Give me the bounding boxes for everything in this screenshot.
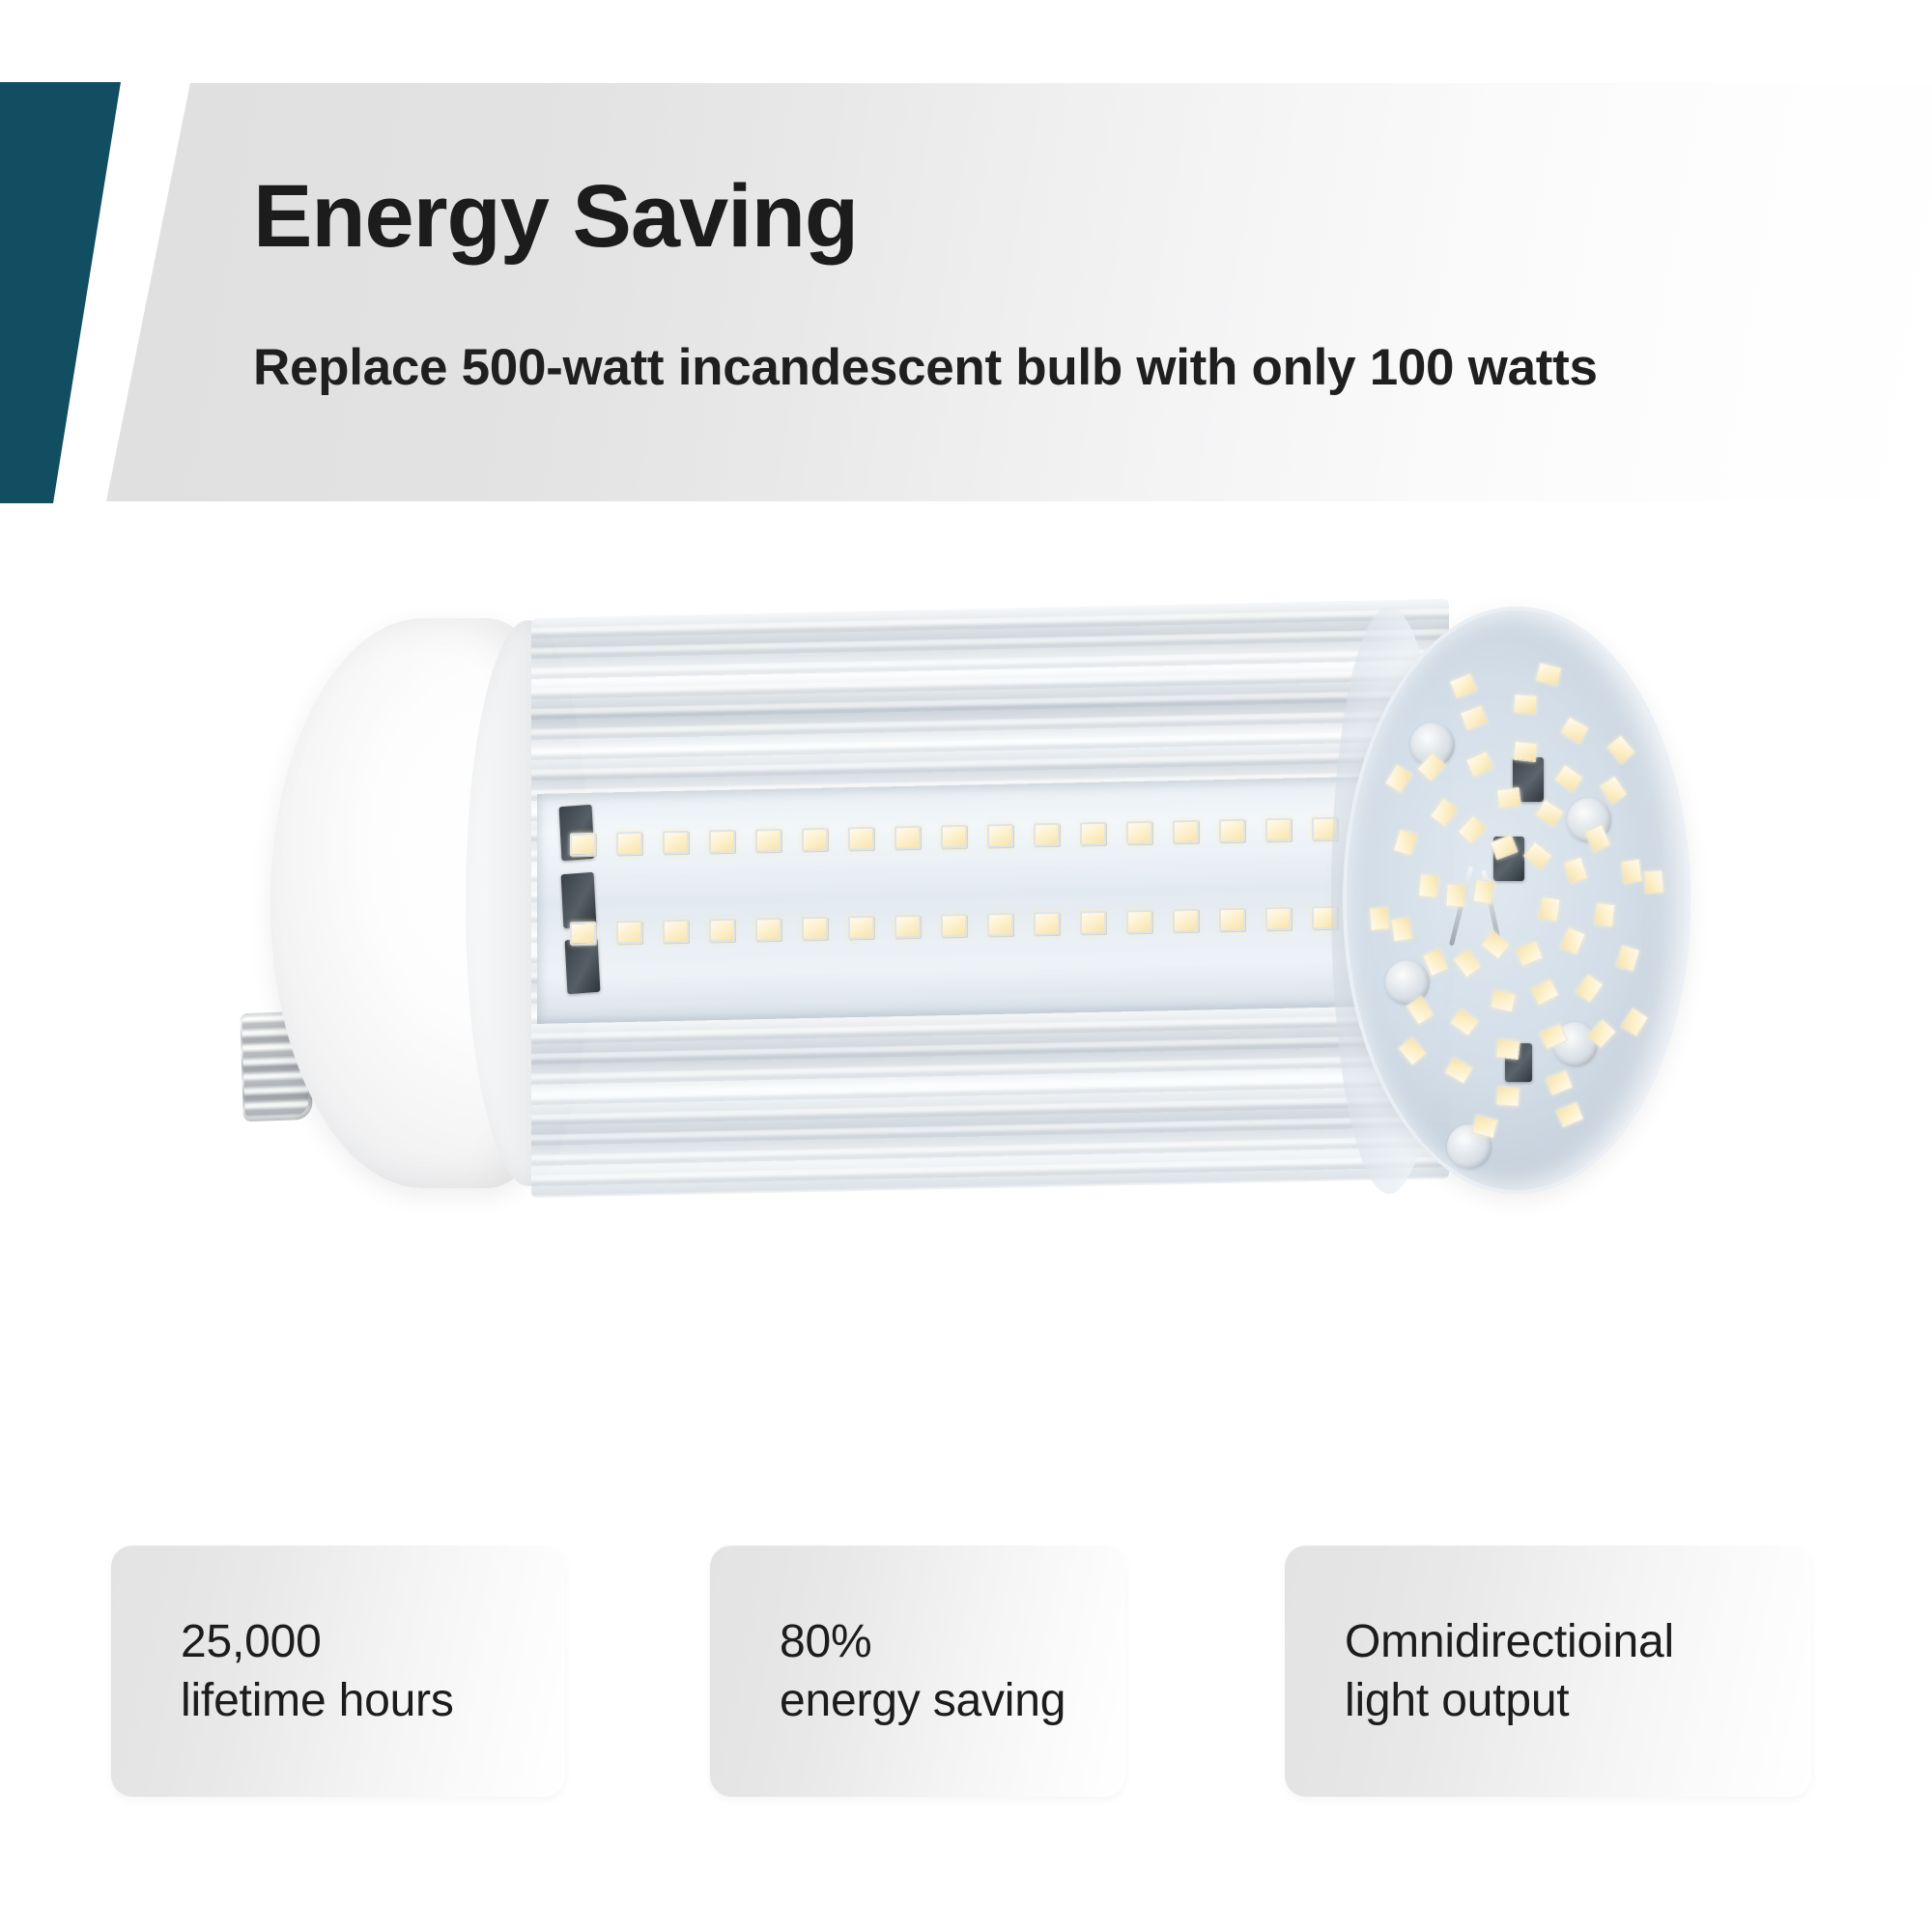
led-chip	[1545, 1069, 1574, 1095]
led-chip	[663, 831, 689, 855]
led-chip	[802, 828, 828, 852]
led-chip	[1449, 1008, 1479, 1037]
led-chip	[1034, 912, 1060, 936]
led-chip	[709, 919, 735, 943]
led-chip	[616, 921, 642, 945]
led-chip	[1620, 1008, 1649, 1037]
feature-card-energy-saving: 80% energy saving	[710, 1546, 1125, 1797]
led-chip	[1575, 973, 1604, 1003]
led-chip	[1560, 716, 1590, 744]
led-chip	[1472, 879, 1495, 905]
led-chip	[987, 824, 1013, 848]
feature-value: 25,000	[111, 1612, 565, 1671]
led-chip	[1398, 1036, 1428, 1065]
led-chip	[1265, 818, 1292, 842]
feature-label: light output	[1285, 1671, 1811, 1730]
led-chip	[1535, 662, 1562, 686]
led-chip	[1513, 694, 1537, 715]
led-chip	[1513, 741, 1538, 762]
led-chip	[1126, 821, 1152, 845]
led-chip	[1445, 883, 1465, 907]
led-chip	[1390, 917, 1413, 943]
led-chip	[1522, 841, 1552, 871]
led-chip	[1369, 906, 1390, 930]
led-chip	[709, 830, 735, 854]
led-chip	[1219, 819, 1245, 843]
led-chip	[1126, 910, 1152, 934]
feature-label: lifetime hours	[111, 1671, 565, 1730]
led-chip	[755, 918, 781, 942]
led-chip	[1534, 799, 1564, 828]
bulb-end-cap-led-board	[1343, 607, 1690, 1194]
led-chip	[1555, 1101, 1584, 1128]
led-chip	[755, 829, 781, 853]
led-chip	[1606, 734, 1636, 764]
led-chip	[1643, 869, 1664, 894]
feature-label: energy saving	[710, 1671, 1125, 1730]
feature-value: 80%	[710, 1612, 1125, 1671]
led-chip	[1495, 1038, 1520, 1060]
led-chip	[1080, 911, 1106, 935]
led-chip	[1453, 948, 1482, 978]
led-chip	[1615, 945, 1640, 973]
page-subtitle: Replace 500-watt incandescent bulb with …	[253, 342, 1598, 393]
feature-cards-row: 25,000 lifetime hours 80% energy saving …	[0, 1546, 1932, 1826]
feature-card-omnidirectional: Omnidirectioinal light output	[1285, 1546, 1811, 1797]
led-chip	[1594, 902, 1615, 927]
led-chip	[1449, 672, 1478, 699]
banner-text-group: Energy Saving Replace 500-watt incandesc…	[0, 0, 1932, 512]
led-chip	[1480, 930, 1510, 960]
infographic-page: Energy Saving Replace 500-watt incandesc…	[0, 0, 1932, 1932]
led-chip	[1559, 926, 1586, 955]
led-chip	[1265, 907, 1292, 931]
feature-value: Omnidirectioinal	[1285, 1612, 1811, 1671]
led-chip	[1515, 940, 1544, 966]
led-chip	[1490, 989, 1517, 1013]
led-chip	[1384, 764, 1413, 794]
led-chip	[1563, 857, 1588, 885]
led-chip	[1173, 909, 1199, 933]
led-chip	[1393, 829, 1418, 857]
page-title: Energy Saving	[253, 172, 858, 261]
led-chip	[1444, 1056, 1474, 1084]
led-chip	[1553, 764, 1583, 793]
led-corn-bulb-image	[241, 599, 1690, 1449]
led-chip	[1465, 751, 1494, 778]
led-chip	[987, 913, 1013, 937]
led-chip	[1173, 820, 1199, 844]
led-chip	[1430, 797, 1459, 827]
led-chip	[1620, 859, 1642, 885]
led-chip	[895, 915, 921, 939]
led-chip	[895, 826, 921, 850]
led-chip	[1080, 822, 1106, 846]
led-chip	[570, 833, 596, 857]
led-chip	[941, 825, 967, 849]
led-chip	[1496, 787, 1521, 810]
led-chip	[941, 914, 967, 938]
led-chip	[1458, 814, 1488, 844]
led-chip	[848, 916, 874, 940]
product-image-stage	[0, 580, 1932, 1468]
led-chip	[1538, 896, 1561, 923]
led-chip	[848, 827, 874, 851]
led-chip	[1460, 704, 1489, 730]
led-chip	[1530, 979, 1559, 1007]
feature-card-lifetime: 25,000 lifetime hours	[111, 1546, 565, 1797]
led-chip	[616, 832, 642, 856]
led-chip	[663, 920, 689, 944]
led-chip	[802, 917, 828, 941]
led-chip	[1034, 823, 1060, 847]
led-chip	[1495, 1086, 1520, 1107]
led-chip	[1599, 775, 1628, 805]
led-chip	[1418, 873, 1439, 898]
led-chip	[570, 922, 596, 946]
led-chip	[1219, 908, 1245, 932]
header-banner: Energy Saving Replace 500-watt incandesc…	[0, 0, 1932, 512]
